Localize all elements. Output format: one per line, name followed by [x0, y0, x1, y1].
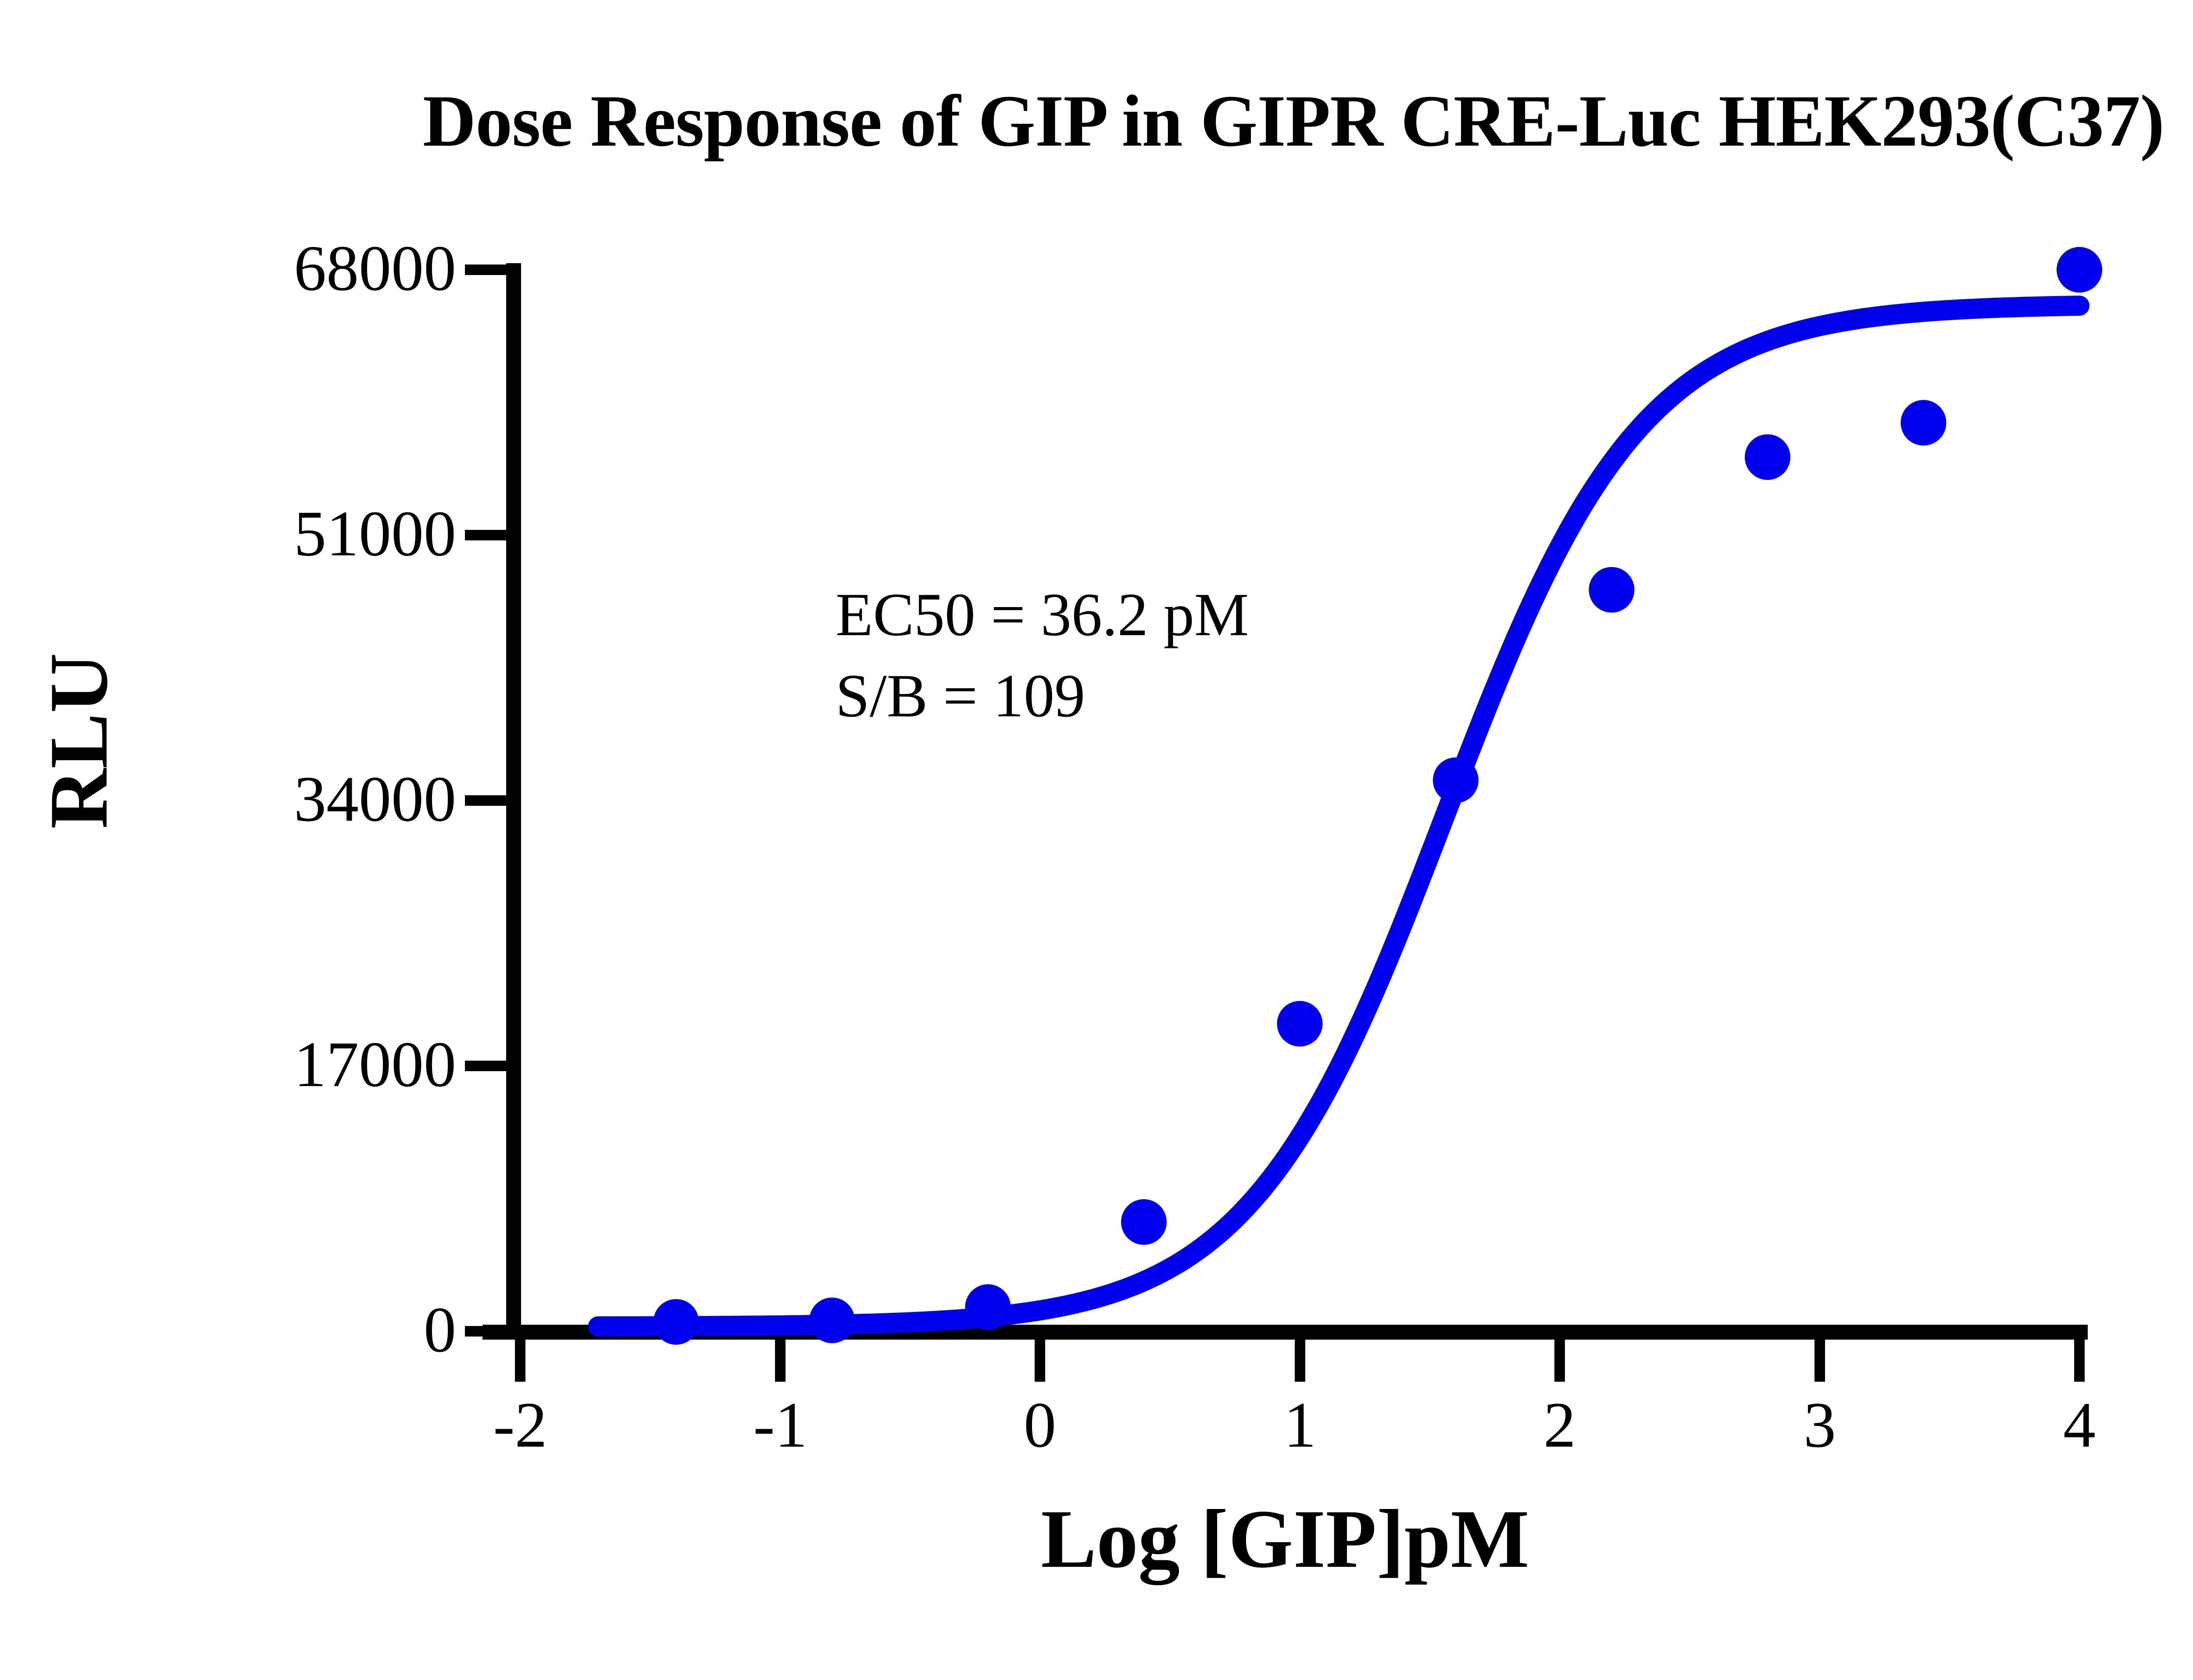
data-point-markers: [654, 247, 2103, 1345]
data-point: [809, 1298, 855, 1343]
data-point: [1901, 400, 1947, 446]
plot-area: 0 17000 34000 51000 68000 -2 -1 0 1 2 3 …: [0, 0, 2193, 1680]
data-point: [1433, 758, 1479, 803]
annotation-sb: S/B = 109: [836, 656, 1249, 737]
data-point: [1745, 434, 1790, 480]
dose-response-chart: Dose Response of GIP in GIPR CRE-Luc HEK…: [0, 0, 2193, 1680]
y-axis-title: RLU: [31, 587, 127, 894]
series-layer: [0, 0, 2193, 1680]
data-point: [2057, 247, 2102, 293]
data-point: [1121, 1199, 1167, 1245]
annotation-block: EC50 = 36.2 pM S/B = 109: [836, 575, 1249, 737]
data-point: [1277, 1001, 1323, 1047]
data-point: [1589, 567, 1635, 613]
fit-curve-path: [598, 306, 2079, 1326]
data-point: [654, 1299, 699, 1345]
annotation-ec50: EC50 = 36.2 pM: [836, 575, 1249, 656]
x-axis-title: Log [GIP]pM: [482, 1491, 2088, 1587]
data-point: [965, 1284, 1011, 1330]
